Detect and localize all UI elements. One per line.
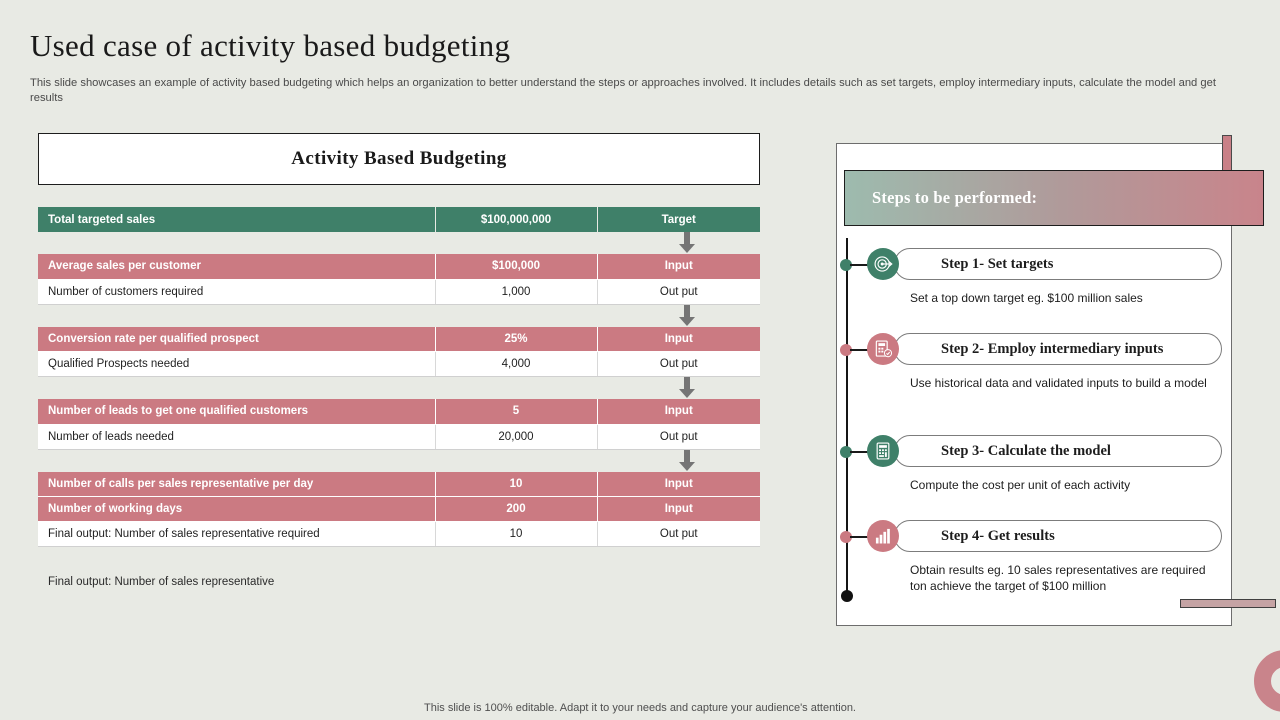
- row-type: Out put: [597, 522, 760, 547]
- budget-table-group-5: Number of calls per sales representative…: [38, 472, 760, 548]
- row-type: Out put: [597, 352, 760, 377]
- arrow-connector-2: [38, 305, 760, 327]
- step-pill[interactable]: Step 4- Get results: [894, 520, 1222, 552]
- down-arrow-icon: [678, 232, 696, 254]
- row-value: 4,000: [435, 352, 597, 377]
- steps-panel-header: Steps to be performed:: [844, 170, 1264, 226]
- row-label: Final output: Number of sales representa…: [38, 522, 435, 547]
- row-type: Target: [597, 207, 760, 232]
- target-icon: [867, 248, 899, 280]
- step-pill[interactable]: Step 3- Calculate the model: [894, 435, 1222, 467]
- step-pill[interactable]: Step 2- Employ intermediary inputs: [894, 333, 1222, 365]
- abb-title-box: Activity Based Budgeting: [38, 133, 760, 185]
- step-description: Use historical data and validated inputs…: [910, 375, 1210, 391]
- row-value: 200: [435, 497, 597, 522]
- step-label: Step 1- Set targets: [941, 256, 1053, 273]
- row-label: Conversion rate per qualified prospect: [38, 327, 435, 352]
- page-subtitle: This slide showcases an example of activ…: [30, 76, 1230, 106]
- step-description: Obtain results eg. 10 sales representati…: [910, 562, 1210, 594]
- row-type: Input: [597, 327, 760, 352]
- page-title: Used case of activity based budgeting: [30, 28, 510, 64]
- row-value: 20,000: [435, 424, 597, 449]
- row-label: Number of customers required: [38, 279, 435, 304]
- row-type: Input: [597, 472, 760, 497]
- document-data-icon: [867, 333, 899, 365]
- row-label: Number of leads to get one qualified cus…: [38, 399, 435, 424]
- row-label: Number of working days: [38, 497, 435, 522]
- calculator-icon: [867, 435, 899, 467]
- step-description: Compute the cost per unit of each activi…: [910, 477, 1210, 493]
- final-output-note: Final output: Number of sales representa…: [48, 576, 770, 588]
- decor-bottom-tick: [1180, 599, 1276, 608]
- table-row: Conversion rate per qualified prospect 2…: [38, 327, 760, 352]
- row-type: Input: [597, 254, 760, 279]
- step-label: Step 4- Get results: [941, 528, 1055, 545]
- row-value: $100,000,000: [435, 207, 597, 232]
- steps-panel: Steps to be performed: Step 1- Set targe…: [836, 143, 1232, 626]
- row-type: Input: [597, 399, 760, 424]
- activity-based-budgeting-panel: Activity Based Budgeting Total targeted …: [30, 133, 770, 588]
- row-value: 10: [435, 472, 597, 497]
- down-arrow-icon: [678, 305, 696, 327]
- bar-chart-icon: [867, 520, 899, 552]
- table-row: Number of calls per sales representative…: [38, 472, 760, 497]
- budget-table-group-3: Conversion rate per qualified prospect 2…: [38, 327, 760, 378]
- arrow-connector-4: [38, 450, 760, 472]
- arrow-connector-1: [38, 232, 760, 254]
- down-arrow-icon: [678, 450, 696, 472]
- row-value: $100,000: [435, 254, 597, 279]
- budget-table-group-1: Total targeted sales $100,000,000 Target: [38, 207, 760, 232]
- row-label: Total targeted sales: [38, 207, 435, 232]
- steps-panel-header-text: Steps to be performed:: [872, 188, 1037, 208]
- budget-table-group-4: Number of leads to get one qualified cus…: [38, 399, 760, 450]
- table-row: Number of leads needed 20,000 Out put: [38, 424, 760, 449]
- footer-note: This slide is 100% editable. Adapt it to…: [0, 702, 1280, 714]
- row-label: Number of leads needed: [38, 424, 435, 449]
- step-label: Step 3- Calculate the model: [941, 443, 1111, 460]
- table-row: Number of customers required 1,000 Out p…: [38, 279, 760, 304]
- table-row: Number of leads to get one qualified cus…: [38, 399, 760, 424]
- abb-title-text: Activity Based Budgeting: [291, 148, 506, 170]
- down-arrow-icon: [678, 377, 696, 399]
- table-row: Final output: Number of sales representa…: [38, 522, 760, 547]
- table-row: Qualified Prospects needed 4,000 Out put: [38, 352, 760, 377]
- row-value: 25%: [435, 327, 597, 352]
- row-type: Out put: [597, 424, 760, 449]
- slide-root: Used case of activity based budgeting Th…: [0, 0, 1280, 720]
- budget-table-group-2: Average sales per customer $100,000 Inpu…: [38, 254, 760, 305]
- table-row: Average sales per customer $100,000 Inpu…: [38, 254, 760, 279]
- step-label: Step 2- Employ intermediary inputs: [941, 341, 1163, 358]
- timeline-end-dot: [841, 590, 853, 602]
- table-row: Total targeted sales $100,000,000 Target: [38, 207, 760, 232]
- row-type: Out put: [597, 279, 760, 304]
- row-value: 5: [435, 399, 597, 424]
- row-label: Average sales per customer: [38, 254, 435, 279]
- row-value: 10: [435, 522, 597, 547]
- step-description: Set a top down target eg. $100 million s…: [910, 290, 1210, 306]
- row-type: Input: [597, 497, 760, 522]
- row-value: 1,000: [435, 279, 597, 304]
- table-row: Number of working days 200 Input: [38, 497, 760, 522]
- row-label: Qualified Prospects needed: [38, 352, 435, 377]
- step-pill[interactable]: Step 1- Set targets: [894, 248, 1222, 280]
- row-label: Number of calls per sales representative…: [38, 472, 435, 497]
- arrow-connector-3: [38, 377, 760, 399]
